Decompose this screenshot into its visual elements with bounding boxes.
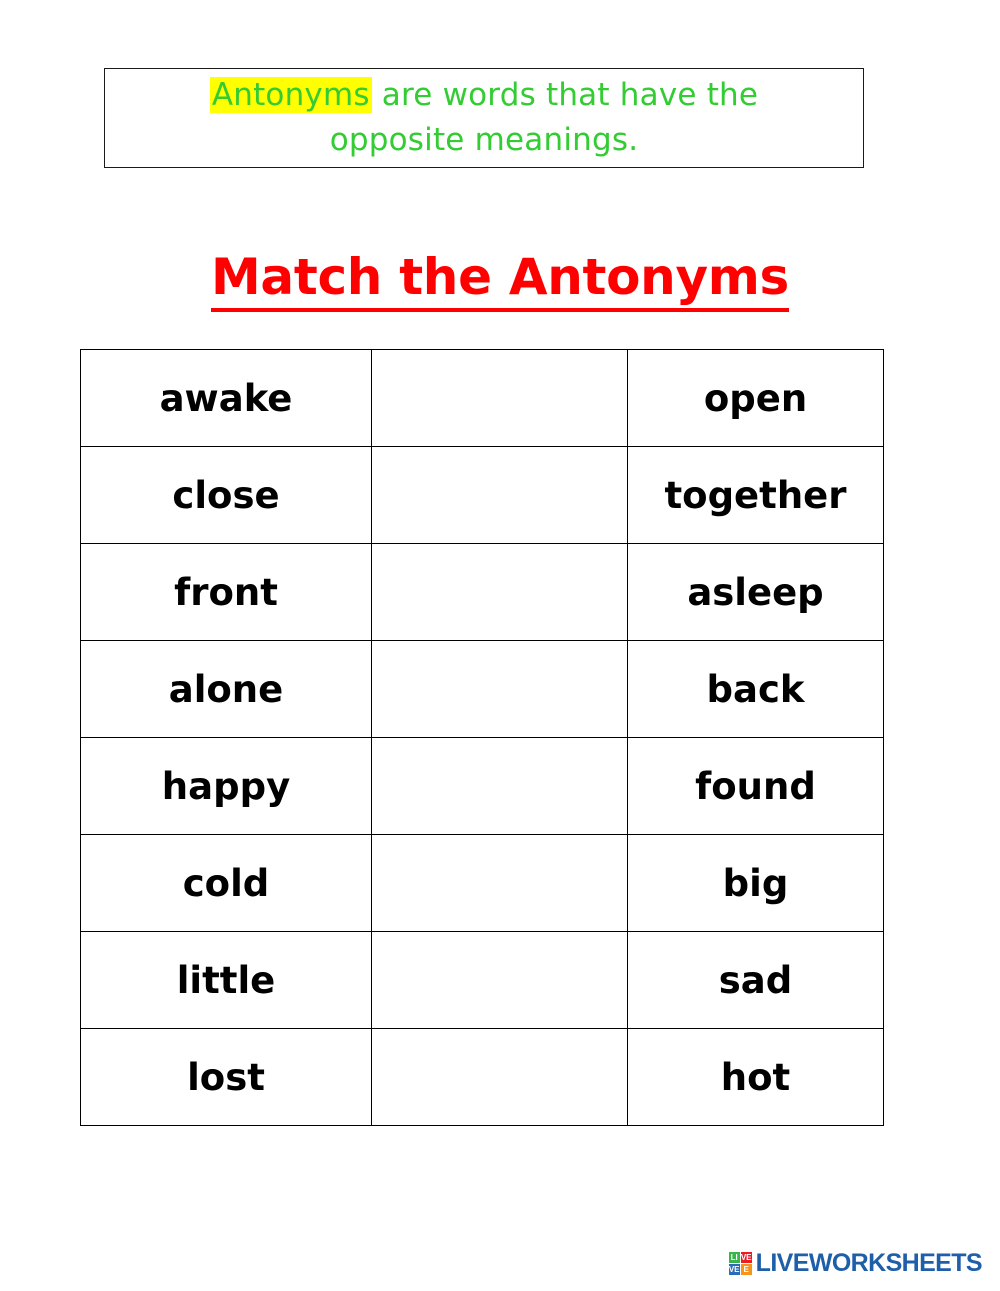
logo-cell-ve: VE bbox=[741, 1252, 752, 1263]
right-word-cell: hot bbox=[628, 1029, 884, 1126]
logo-cell-e: E bbox=[741, 1264, 752, 1275]
right-word-cell: sad bbox=[628, 932, 884, 1029]
right-word-cell: together bbox=[628, 447, 884, 544]
logo-cell-ve2: VE bbox=[729, 1264, 740, 1275]
highlighted-term: Antonyms bbox=[210, 77, 372, 113]
right-word-cell: big bbox=[628, 835, 884, 932]
right-word-cell: back bbox=[628, 641, 884, 738]
right-word-cell: open bbox=[628, 350, 884, 447]
definition-line-1: Antonyms are words that have the bbox=[210, 73, 758, 118]
table-row: awake open bbox=[81, 350, 884, 447]
logo-cell-li: LI bbox=[729, 1252, 740, 1263]
table-row: cold big bbox=[81, 835, 884, 932]
left-word-cell: front bbox=[81, 544, 372, 641]
answer-cell[interactable] bbox=[372, 835, 628, 932]
table-row: little sad bbox=[81, 932, 884, 1029]
answer-cell[interactable] bbox=[372, 1029, 628, 1126]
left-word-cell: awake bbox=[81, 350, 372, 447]
definition-line-2: opposite meanings. bbox=[330, 118, 639, 163]
page-title: Match the Antonyms bbox=[0, 248, 1000, 306]
antonyms-match-table: awake open close together front asleep a… bbox=[80, 349, 884, 1126]
answer-cell[interactable] bbox=[372, 738, 628, 835]
page-title-text: Match the Antonyms bbox=[211, 248, 789, 312]
definition-line-1-rest: are words that have the bbox=[372, 77, 758, 113]
left-word-cell: little bbox=[81, 932, 372, 1029]
definition-box: Antonyms are words that have the opposit… bbox=[104, 68, 864, 168]
left-word-cell: cold bbox=[81, 835, 372, 932]
left-word-cell: alone bbox=[81, 641, 372, 738]
left-word-cell: close bbox=[81, 447, 372, 544]
table-row: front asleep bbox=[81, 544, 884, 641]
answer-cell[interactable] bbox=[372, 350, 628, 447]
table-row: happy found bbox=[81, 738, 884, 835]
answer-cell[interactable] bbox=[372, 641, 628, 738]
left-word-cell: lost bbox=[81, 1029, 372, 1126]
answer-cell[interactable] bbox=[372, 544, 628, 641]
table-row: alone back bbox=[81, 641, 884, 738]
answer-cell[interactable] bbox=[372, 932, 628, 1029]
liveworksheets-logo-icon: LI VE VE E bbox=[729, 1252, 752, 1275]
liveworksheets-brand: LIVEWORKSHEETS bbox=[756, 1249, 982, 1278]
left-word-cell: happy bbox=[81, 738, 372, 835]
answer-cell[interactable] bbox=[372, 447, 628, 544]
liveworksheets-footer: LI VE VE E LIVEWORKSHEETS bbox=[729, 1249, 982, 1278]
right-word-cell: asleep bbox=[628, 544, 884, 641]
table-row: lost hot bbox=[81, 1029, 884, 1126]
table-row: close together bbox=[81, 447, 884, 544]
right-word-cell: found bbox=[628, 738, 884, 835]
